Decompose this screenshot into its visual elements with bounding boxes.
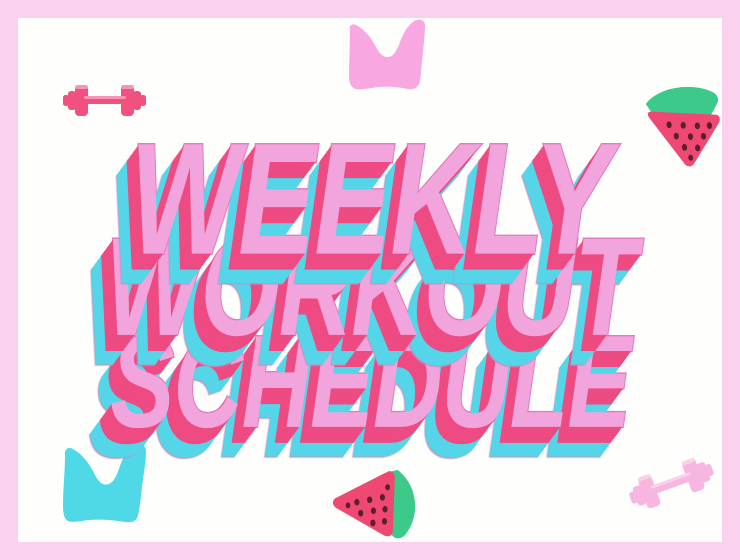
dumbbell-icon [618,448,722,520]
watermelon-icon [330,461,430,542]
sports-bra-icon [340,18,436,98]
poster-inner-area: WEEKLY WORKOUT SCHEDULE [18,18,722,542]
poster-canvas: WEEKLY WORKOUT SCHEDULE [0,0,740,560]
title-line-1-wrap: WEEKLY [125,133,615,229]
poster-headline: WEEKLY WORKOUT SCHEDULE [18,133,722,443]
title-line-weekly: WEEKLY [130,133,610,248]
